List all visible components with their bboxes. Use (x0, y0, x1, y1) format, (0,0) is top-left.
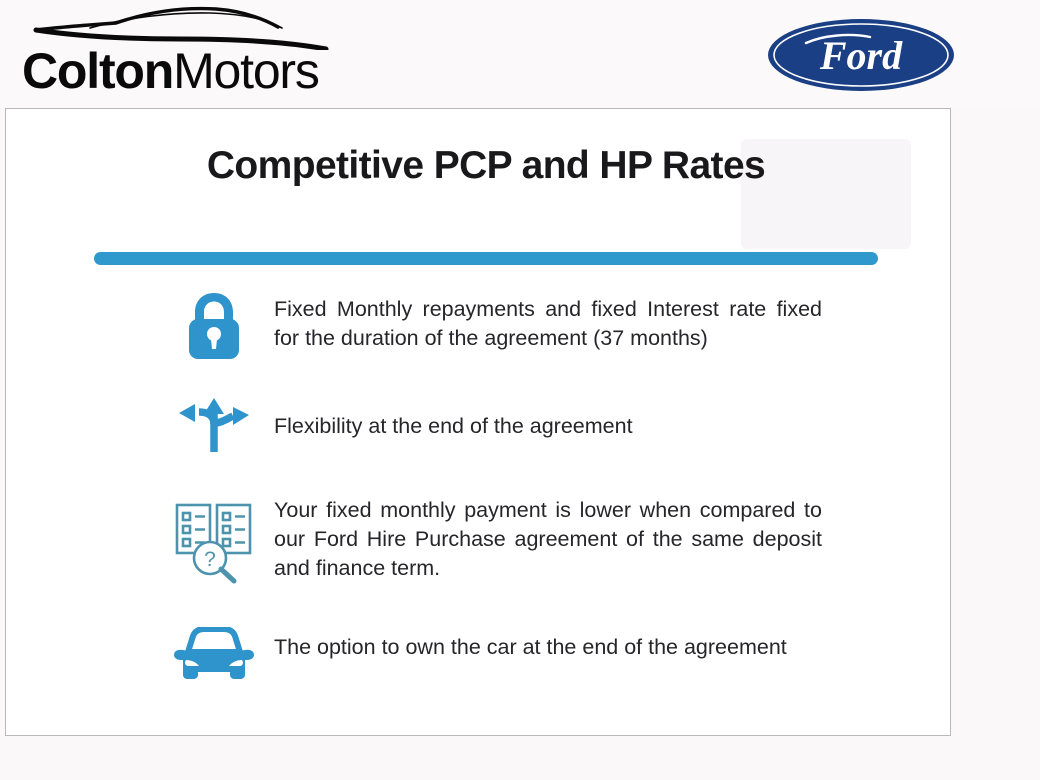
padlock-icon (166, 281, 262, 369)
dealer-name-secondary: Motors (173, 43, 319, 99)
list-item-label: Your fixed monthly payment is lower when… (274, 485, 822, 583)
car-front-icon (166, 613, 262, 701)
page-title: Competitive PCP and HP Rates (96, 139, 876, 193)
list-item: ? Your fixed monthly payment is lower wh… (6, 485, 951, 595)
dealer-name-primary: Colton (22, 43, 173, 99)
content-card: Competitive PCP and HP Rates Fixed Month… (5, 108, 951, 736)
dealer-wordmark: ColtonMotors (22, 40, 402, 102)
page-header: ColtonMotors Ford (0, 0, 1040, 107)
list-item-label: Flexibility at the end of the agreement (274, 387, 822, 441)
list-item-label: Fixed Monthly repayments and fixed Inter… (274, 281, 822, 353)
feature-list: Fixed Monthly repayments and fixed Inter… (6, 281, 951, 719)
dealer-logo[interactable]: ColtonMotors (22, 6, 382, 104)
title-divider-bar (94, 252, 878, 265)
svg-text:Ford: Ford (819, 33, 903, 78)
list-item: Fixed Monthly repayments and fixed Inter… (6, 281, 951, 369)
three-way-arrow-icon (166, 387, 262, 467)
ford-logo-icon[interactable]: Ford (766, 17, 956, 93)
list-item: The option to own the car at the end of … (6, 613, 951, 701)
list-item: Flexibility at the end of the agreement (6, 387, 951, 467)
document-comparison-search-icon: ? (166, 485, 262, 595)
list-item-label: The option to own the car at the end of … (274, 613, 822, 662)
svg-text:?: ? (204, 548, 216, 571)
